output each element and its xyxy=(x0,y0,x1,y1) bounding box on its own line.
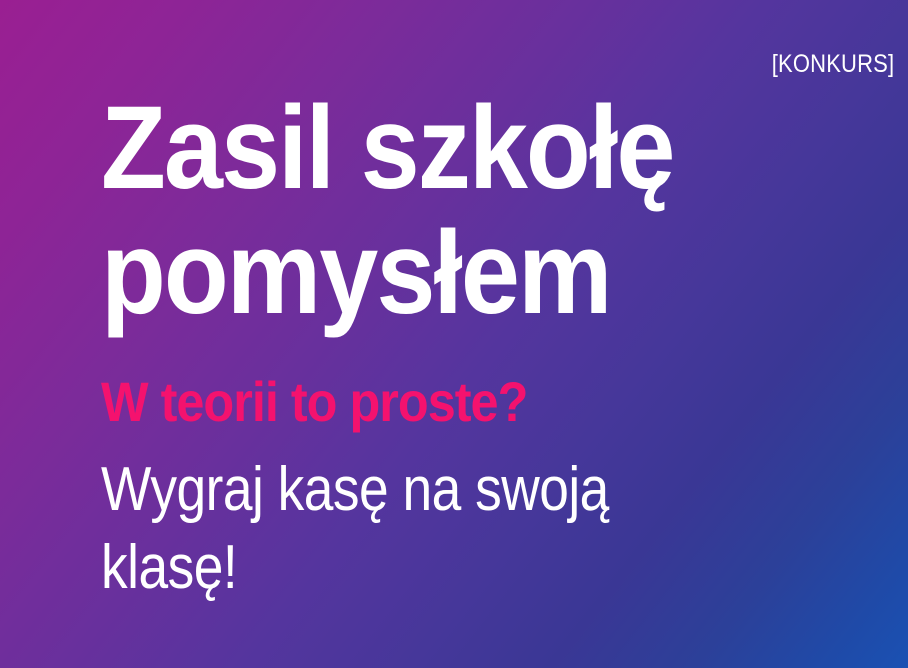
body-line-2: klasę! xyxy=(101,529,703,607)
body-line-1: Wygraj kasę na swoją xyxy=(101,451,703,529)
headline-block: Zasil szkołę pomysłem xyxy=(101,86,801,336)
headline-line-2: pomysłem xyxy=(101,211,731,336)
headline-line-1: Zasil szkołę xyxy=(101,86,731,211)
konkurs-badge: [KONKURS] xyxy=(771,52,894,77)
promo-poster: [KONKURS] Zasil szkołę pomysłem W teorii… xyxy=(0,0,908,668)
body-copy-block: Wygraj kasę na swoją klasę! xyxy=(101,451,801,607)
subheadline-question: W teorii to proste? xyxy=(101,374,527,430)
